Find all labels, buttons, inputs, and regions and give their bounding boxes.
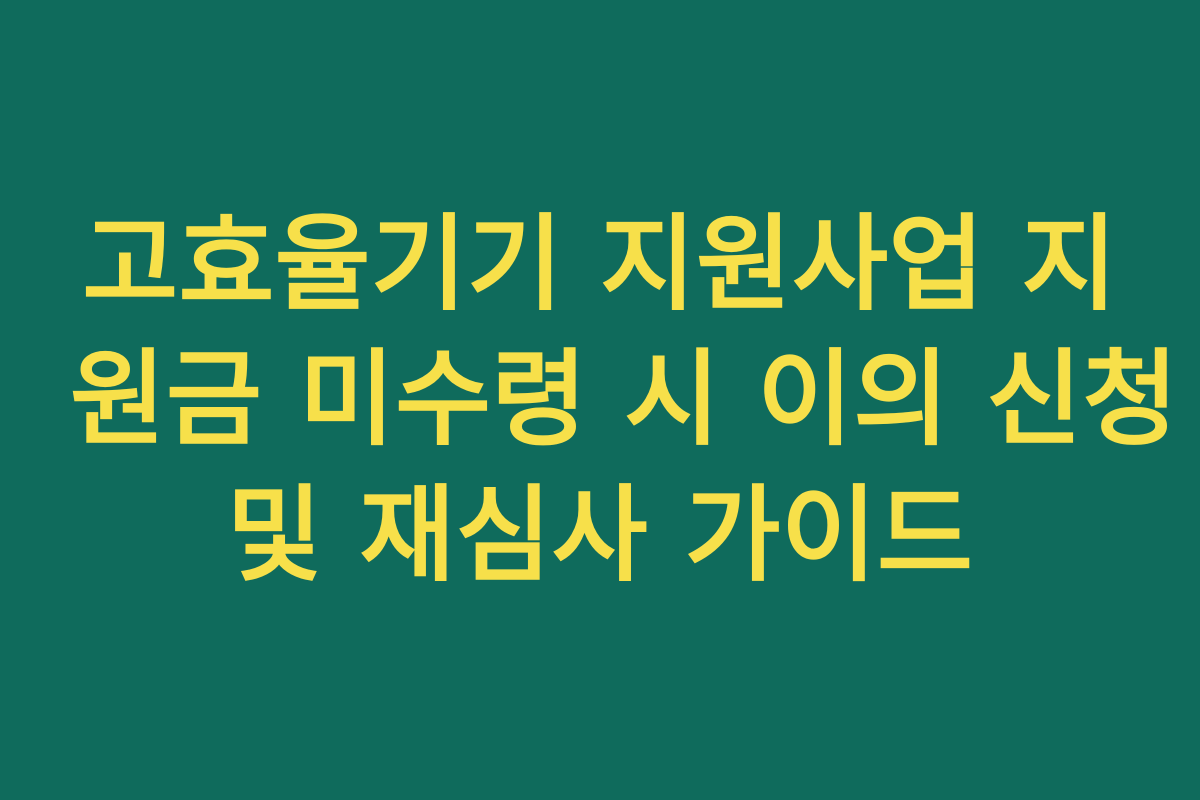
headline-line-3: 및 재심사 가이드 bbox=[70, 468, 1130, 603]
title-card: 고효율기기 지원사업 지 원금 미수령 시 이의 신청 및 재심사 가이드 bbox=[0, 0, 1200, 800]
headline-line-1: 고효율기기 지원사업 지 bbox=[70, 197, 1130, 332]
headline-line-2: 원금 미수령 시 이의 신청 bbox=[70, 332, 1130, 467]
page-title: 고효율기기 지원사업 지 원금 미수령 시 이의 신청 및 재심사 가이드 bbox=[70, 197, 1130, 603]
